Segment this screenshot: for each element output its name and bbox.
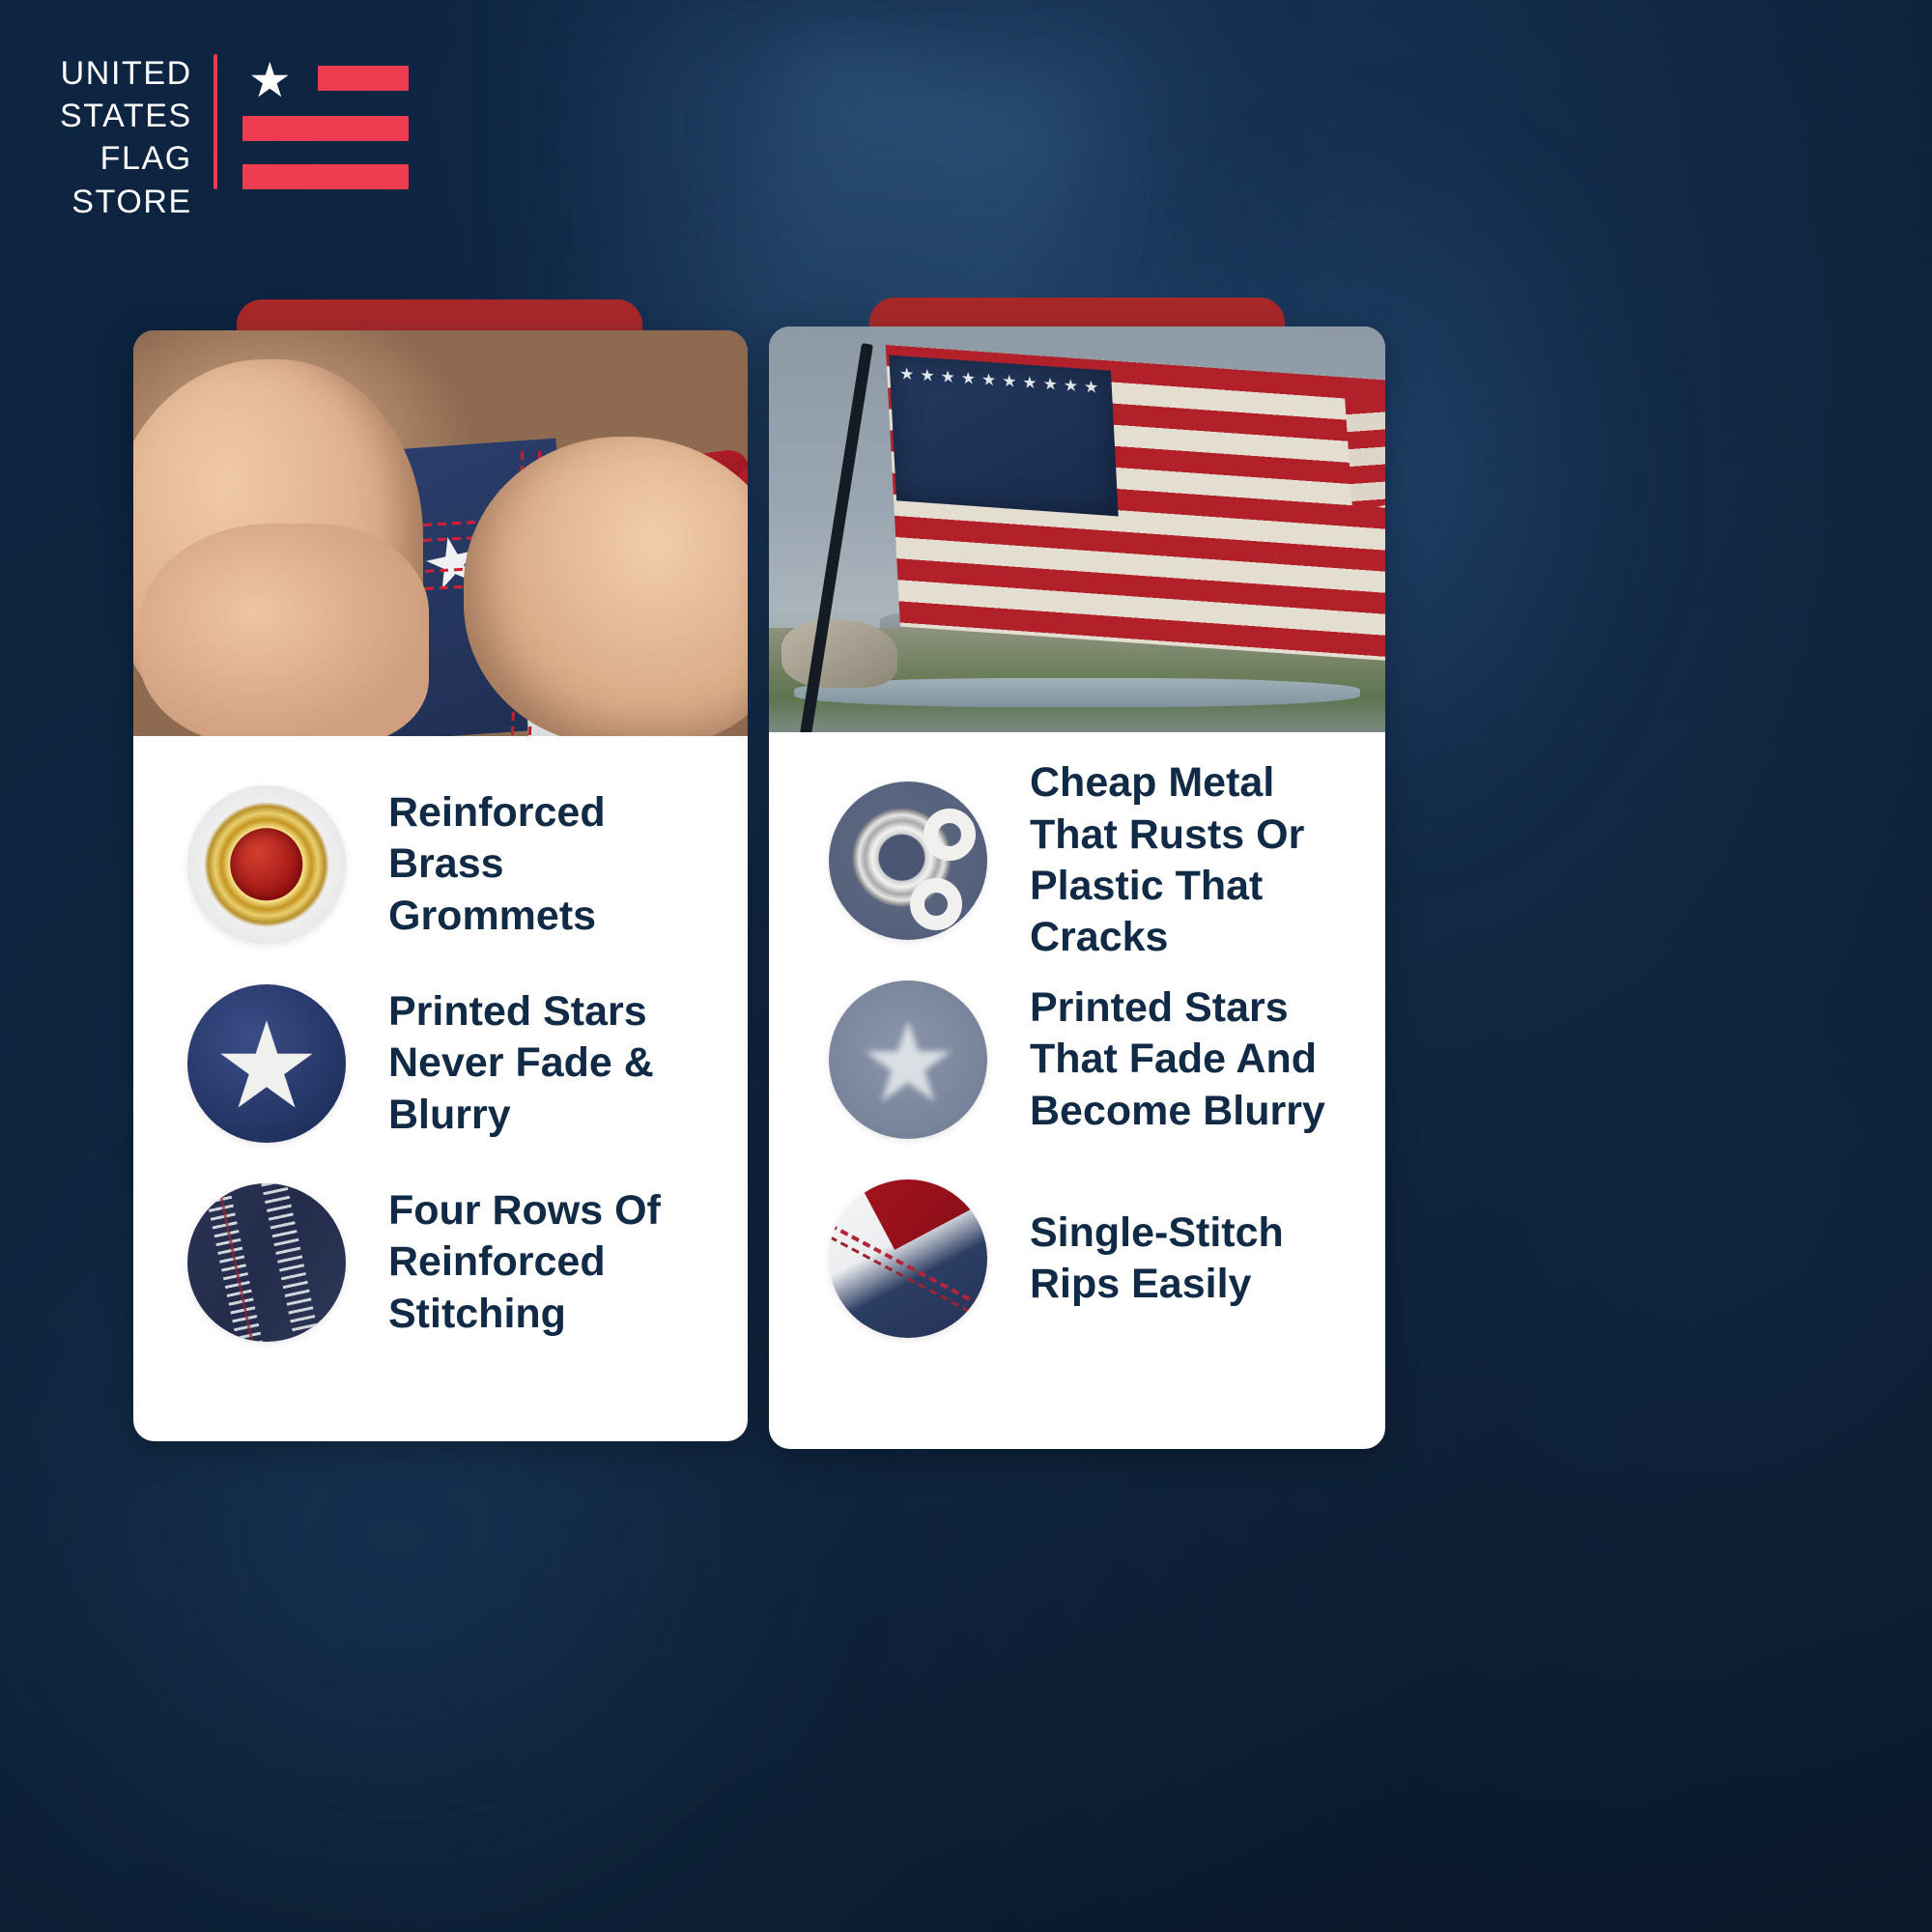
feature-label: Printed Stars That Fade And Become Blurr…: [1030, 982, 1358, 1137]
plastic-ring-bottom: [910, 878, 962, 930]
ours-header-photo: ★: [133, 330, 748, 736]
comparison-infographic: UNITED STATES FLAG STORE ★ OURS OTHERS ★: [0, 0, 1932, 1932]
brand-line-1: UNITED: [61, 52, 192, 95]
cheap-metal-grommet-icon: [829, 781, 987, 940]
feature-row: Printed Stars That Fade And Become Blurr…: [829, 960, 1385, 1159]
red-stripe-patch: [864, 1179, 981, 1249]
printed-star-icon: [187, 984, 346, 1143]
plastic-ring-top: [923, 809, 976, 861]
faded-star-icon: [829, 980, 987, 1139]
brand-line-4: STORE: [71, 181, 192, 223]
card-ours: ★ Reinforced Brass Grommets Printed Star…: [133, 330, 748, 1441]
feature-row: Single-Stitch Rips Easily: [829, 1159, 1385, 1358]
logo-flag-mark: ★: [242, 56, 409, 191]
feature-row: Printed Stars Never Fade & Blurry: [187, 964, 748, 1163]
others-header-photo: ★★★★★★★★★★★★★★★★★★★★★★★★★★★★★★★★★★★★★★★★…: [769, 327, 1385, 732]
logo-stripe-1: [318, 66, 409, 91]
logo-stripe-3: [242, 164, 409, 189]
feature-label: Printed Stars Never Fade & Blurry: [388, 986, 707, 1141]
zigzag-stitch-right: [259, 1183, 323, 1342]
brass-grommet-icon: [187, 785, 346, 944]
feature-label: Reinforced Brass Grommets: [388, 787, 707, 942]
star-icon: ★: [248, 60, 293, 104]
brand-line-3: FLAG: [100, 137, 192, 180]
feature-label: Four Rows Of Reinforced Stitching: [388, 1185, 707, 1340]
feature-label: Cheap Metal That Rusts Or Plastic That C…: [1030, 757, 1358, 963]
reinforced-stitching-icon: [187, 1183, 346, 1342]
brand-logo[interactable]: UNITED STATES FLAG STORE ★: [60, 48, 409, 223]
photo-flag-stars: ★★★★★★★★★★★★★★★★★★★★★★★★★★★★★★★★★★★★★★★★…: [899, 363, 1111, 506]
ours-feature-list: Reinforced Brass Grommets Printed Stars …: [133, 736, 748, 1362]
photo-rocks: [781, 620, 897, 688]
feature-label: Single-Stitch Rips Easily: [1030, 1207, 1358, 1311]
photo-left-hand-lower: [139, 524, 429, 736]
brand-line-2: STATES: [60, 95, 192, 137]
single-seam-line-2: [829, 1230, 987, 1329]
feature-row: Cheap Metal That Rusts Or Plastic That C…: [829, 761, 1385, 960]
logo-divider: [213, 54, 217, 189]
brand-wordmark: UNITED STATES FLAG STORE: [60, 48, 192, 223]
logo-stripe-2: [242, 116, 409, 141]
feature-row: Four Rows Of Reinforced Stitching: [187, 1163, 748, 1362]
single-stitch-icon: [829, 1179, 987, 1338]
feature-row: Reinforced Brass Grommets: [187, 765, 748, 964]
card-others: ★★★★★★★★★★★★★★★★★★★★★★★★★★★★★★★★★★★★★★★★…: [769, 327, 1385, 1449]
others-feature-list: Cheap Metal That Rusts Or Plastic That C…: [769, 732, 1385, 1358]
